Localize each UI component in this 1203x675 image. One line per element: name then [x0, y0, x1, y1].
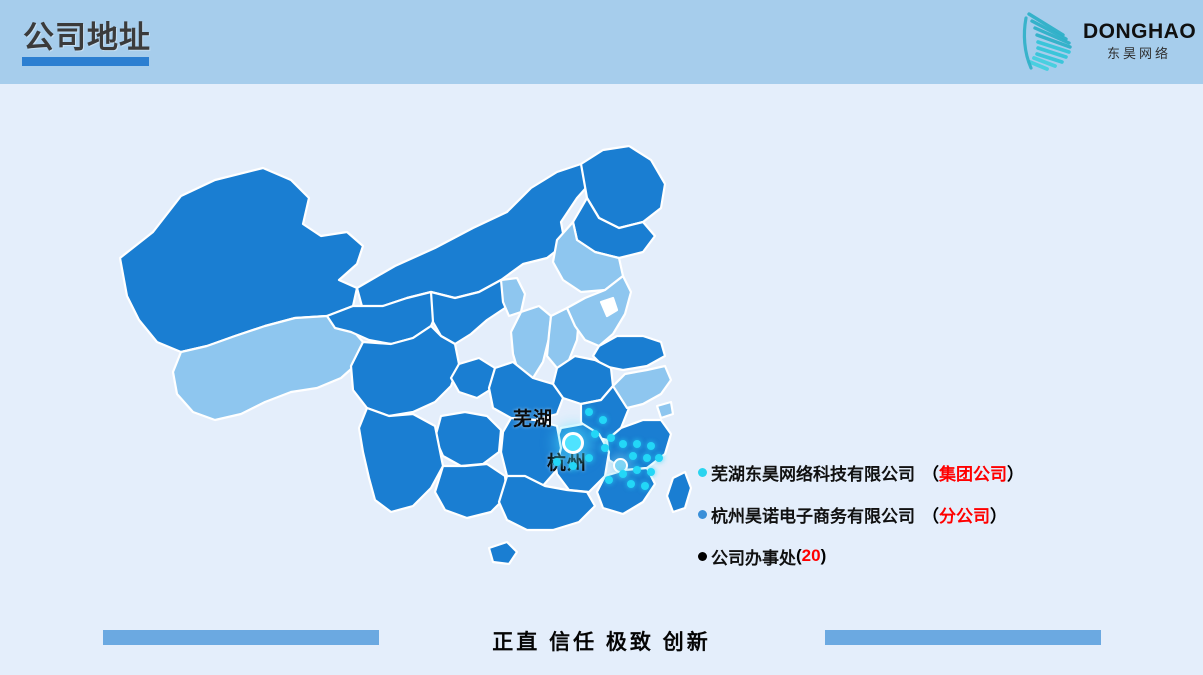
china-map-svg — [95, 140, 695, 610]
province-guizhou — [435, 412, 501, 466]
office-dot[interactable] — [585, 454, 593, 462]
office-dot[interactable] — [601, 444, 609, 452]
legend-paren-close: ） — [990, 502, 1007, 527]
logo-subtitle: 东昊网络 — [1083, 45, 1195, 63]
office-dot[interactable] — [605, 476, 613, 484]
legend: 芜湖东昊网络科技有限公司 （ 集团公司 ） 杭州昊诺电子商务有限公司 （ 分公司… — [698, 462, 1118, 566]
province-inner-mongolia — [357, 164, 593, 310]
office-dot[interactable] — [591, 430, 599, 438]
legend-bullet-black — [698, 552, 707, 561]
province-shanghai — [657, 402, 673, 418]
map-marker-wuhu[interactable] — [562, 432, 584, 454]
donghao-wing-icon — [1019, 8, 1085, 74]
legend-tag: 20 — [802, 546, 821, 566]
office-dot[interactable] — [629, 452, 637, 460]
office-dot[interactable] — [569, 462, 577, 470]
office-dot[interactable] — [647, 468, 655, 476]
legend-bullet-cyan — [698, 468, 707, 477]
legend-paren-open: （ — [922, 460, 939, 485]
province-hainan — [489, 542, 517, 564]
province-taiwan — [667, 472, 691, 512]
legend-label: 杭州昊诺电子商务有限公司 — [711, 502, 915, 527]
company-logo: DONGHAO 东昊网络 — [1015, 6, 1195, 76]
office-dot[interactable] — [627, 480, 635, 488]
province-ningxia — [501, 278, 525, 316]
legend-item-offices: 公司办事处 ( 20 ) — [698, 546, 1118, 566]
city-label-wuhu: 芜湖 — [513, 404, 553, 431]
office-dot[interactable] — [619, 440, 627, 448]
legend-paren-open: （ — [922, 502, 939, 527]
province-guangxi — [435, 464, 507, 518]
china-map[interactable]: 芜湖 杭州 — [95, 140, 695, 610]
logo-name: DONGHAO — [1083, 20, 1195, 44]
office-dot[interactable] — [599, 416, 607, 424]
legend-label: 芜湖东昊网络科技有限公司 — [711, 460, 915, 485]
legend-item-branch-company: 杭州昊诺电子商务有限公司 （ 分公司 ） — [698, 504, 1118, 524]
page-title: 公司地址 — [23, 20, 151, 56]
province-yunnan — [359, 408, 443, 512]
office-dot[interactable] — [607, 434, 615, 442]
office-dot[interactable] — [655, 454, 663, 462]
office-dot[interactable] — [619, 470, 627, 478]
legend-paren-close: ) — [821, 546, 827, 566]
legend-tag: 集团公司 — [939, 460, 1007, 485]
office-dot[interactable] — [647, 442, 655, 450]
legend-tag: 分公司 — [939, 502, 990, 527]
legend-item-group-company: 芜湖东昊网络科技有限公司 （ 集团公司 ） — [698, 462, 1118, 482]
title-underline — [22, 57, 149, 66]
office-dot[interactable] — [585, 408, 593, 416]
logo-wordmark: DONGHAO 东昊网络 — [1083, 20, 1195, 63]
office-dot[interactable] — [633, 466, 641, 474]
office-dot[interactable] — [553, 458, 561, 466]
office-dot[interactable] — [643, 454, 651, 462]
footer-bar-right — [825, 630, 1101, 645]
legend-paren-close: ） — [1007, 460, 1024, 485]
legend-label: 公司办事处 — [711, 544, 796, 569]
office-dot[interactable] — [633, 440, 641, 448]
legend-bullet-blue — [698, 510, 707, 519]
office-dot[interactable] — [641, 482, 649, 490]
province-jiangsu — [613, 366, 671, 408]
